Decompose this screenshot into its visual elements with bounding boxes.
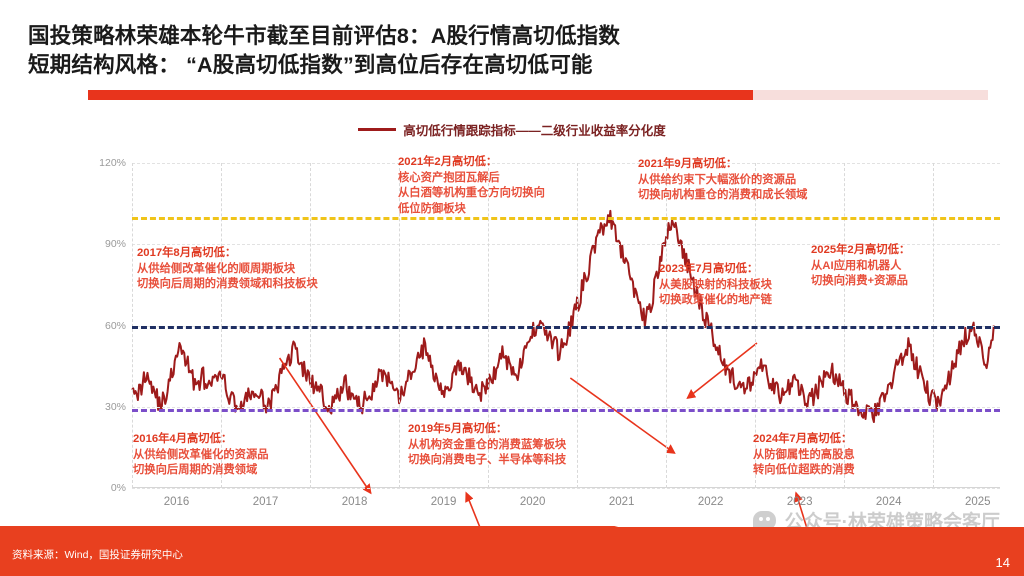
annotation-2021-02-line-3: 低位防御板块 bbox=[398, 202, 545, 218]
y-axis-tick-label: 30% bbox=[84, 401, 126, 413]
x-axis-tick-label: 2018 bbox=[342, 496, 368, 508]
annotation-2021-09-line-1: 从供给约束下大幅涨价的资源品 bbox=[638, 173, 807, 189]
x-axis-tick-label: 2021 bbox=[609, 496, 635, 508]
annotation-2019-05-line-1: 从机构资金重仓的消费蓝筹板块 bbox=[408, 438, 566, 454]
annotation-2021-02: 2021年2月高切低： 核心资产抱团瓦解后 从白酒等机构重仓方向切换向 低位防御… bbox=[398, 155, 545, 217]
annotation-2023-07-line-2: 切换政策催化的地产链 bbox=[659, 293, 772, 309]
annotation-2017-08-line-2: 切换向后周期的消费领域和科技板块 bbox=[137, 277, 318, 293]
annotation-2021-09: 2021年9月高切低： 从供给约束下大幅涨价的资源品 切换向机构重仓的消费和成长… bbox=[638, 157, 807, 204]
annotation-2025-02-line-1: 从AI应用和机器人 bbox=[811, 259, 910, 275]
gridline-horizontal bbox=[132, 163, 1000, 164]
annotation-2016-04-line-2: 切换向后周期的消费领域 bbox=[133, 463, 269, 479]
annotation-arrow bbox=[280, 358, 371, 493]
annotation-2017-08-line-1: 从供给侧改革催化的顺周期板块 bbox=[137, 262, 318, 278]
annotation-2024-07-line-1: 从防御属性的高股息 bbox=[753, 448, 855, 464]
annotation-2019-05: 2019年5月高切低： 从机构资金重仓的消费蓝筹板块 切换向消费电子、半导体等科… bbox=[408, 422, 566, 469]
annotation-2024-07: 2024年7月高切低： 从防御属性的高股息 转向低位超跌的消费 bbox=[753, 432, 855, 479]
reference-line-lower-band bbox=[132, 409, 1000, 412]
y-axis-tick-label: 0% bbox=[84, 482, 126, 494]
annotation-2016-04-head: 2016年4月高切低： bbox=[133, 432, 269, 448]
title-line-1: 国投策略林荣雄本轮牛市截至目前评估8：A股行情高切低指数 bbox=[28, 22, 928, 51]
footer-band: 资料来源：Wind，国投证券研究中心 14 bbox=[0, 527, 1024, 576]
annotation-2016-04: 2016年4月高切低： 从供给侧改革催化的资源品 切换向后周期的消费领域 bbox=[133, 432, 269, 479]
x-axis-tick-label: 2022 bbox=[698, 496, 724, 508]
legend-label: 高切低行情跟踪指标——二级行业收益率分化度 bbox=[403, 120, 666, 139]
annotation-2025-02: 2025年2月高切低： 从AI应用和机器人 切换向消费+资源品 bbox=[811, 243, 910, 290]
y-axis-tick-label: 90% bbox=[84, 238, 126, 250]
x-axis-tick-label: 2016 bbox=[164, 496, 190, 508]
annotation-2021-09-line-2: 切换向机构重仓的消费和成长领域 bbox=[638, 188, 807, 204]
annotation-2017-08: 2017年8月高切低： 从供给侧改革催化的顺周期板块 切换向后周期的消费领域和科… bbox=[137, 246, 318, 293]
legend-line-swatch bbox=[358, 128, 396, 131]
annotation-2025-02-line-2: 切换向消费+资源品 bbox=[811, 274, 910, 290]
annotation-2019-05-head: 2019年5月高切低： bbox=[408, 422, 566, 438]
page-title: 国投策略林荣雄本轮牛市截至目前评估8：A股行情高切低指数 短期结构风格： “A股… bbox=[28, 22, 928, 80]
annotation-2024-07-line-2: 转向低位超跌的消费 bbox=[753, 463, 855, 479]
annotation-2023-07: 2023年7月高切低： 从美股映射的科技板块 切换政策催化的地产链 bbox=[659, 262, 772, 309]
annotation-2021-02-line-2: 从白酒等机构重仓方向切换向 bbox=[398, 186, 545, 202]
x-axis-tick-label: 2017 bbox=[253, 496, 279, 508]
title-underline-accent bbox=[88, 90, 753, 100]
title-line-2: 短期结构风格： “A股高切低指数”到高位后存在高切低可能 bbox=[28, 51, 928, 80]
annotation-2017-08-head: 2017年8月高切低： bbox=[137, 246, 318, 262]
slide: 国投策略林荣雄本轮牛市截至目前评估8：A股行情高切低指数 短期结构风格： “A股… bbox=[0, 0, 1024, 576]
annotation-2024-07-head: 2024年7月高切低： bbox=[753, 432, 855, 448]
page-number: 14 bbox=[996, 555, 1010, 570]
annotation-2023-07-line-1: 从美股映射的科技板块 bbox=[659, 278, 772, 294]
gridline-horizontal bbox=[132, 407, 1000, 408]
reference-line-upper-band bbox=[132, 217, 1000, 220]
annotation-arrow bbox=[688, 343, 757, 398]
footer-source: 资料来源：Wind，国投证券研究中心 bbox=[12, 547, 183, 562]
annotation-arrow bbox=[570, 378, 674, 453]
annotation-2023-07-head: 2023年7月高切低： bbox=[659, 262, 772, 278]
gridline-horizontal bbox=[132, 488, 1000, 489]
y-axis-tick-label: 120% bbox=[84, 157, 126, 169]
annotation-2016-04-line-1: 从供给侧改革催化的资源品 bbox=[133, 448, 269, 464]
annotation-2021-02-head: 2021年2月高切低： bbox=[398, 155, 545, 171]
x-axis-tick-label: 2020 bbox=[520, 496, 546, 508]
x-axis-tick-label: 2019 bbox=[431, 496, 457, 508]
annotation-2025-02-head: 2025年2月高切低： bbox=[811, 243, 910, 259]
reference-line-mid-band bbox=[132, 326, 1000, 329]
y-axis-tick-label: 60% bbox=[84, 320, 126, 332]
chart-legend: 高切低行情跟踪指标——二级行业收益率分化度 bbox=[0, 120, 1024, 139]
annotation-2021-02-line-1: 核心资产抱团瓦解后 bbox=[398, 171, 545, 187]
annotation-2021-09-head: 2021年9月高切低： bbox=[638, 157, 807, 173]
annotation-2019-05-line-2: 切换向消费电子、半导体等科技 bbox=[408, 453, 566, 469]
